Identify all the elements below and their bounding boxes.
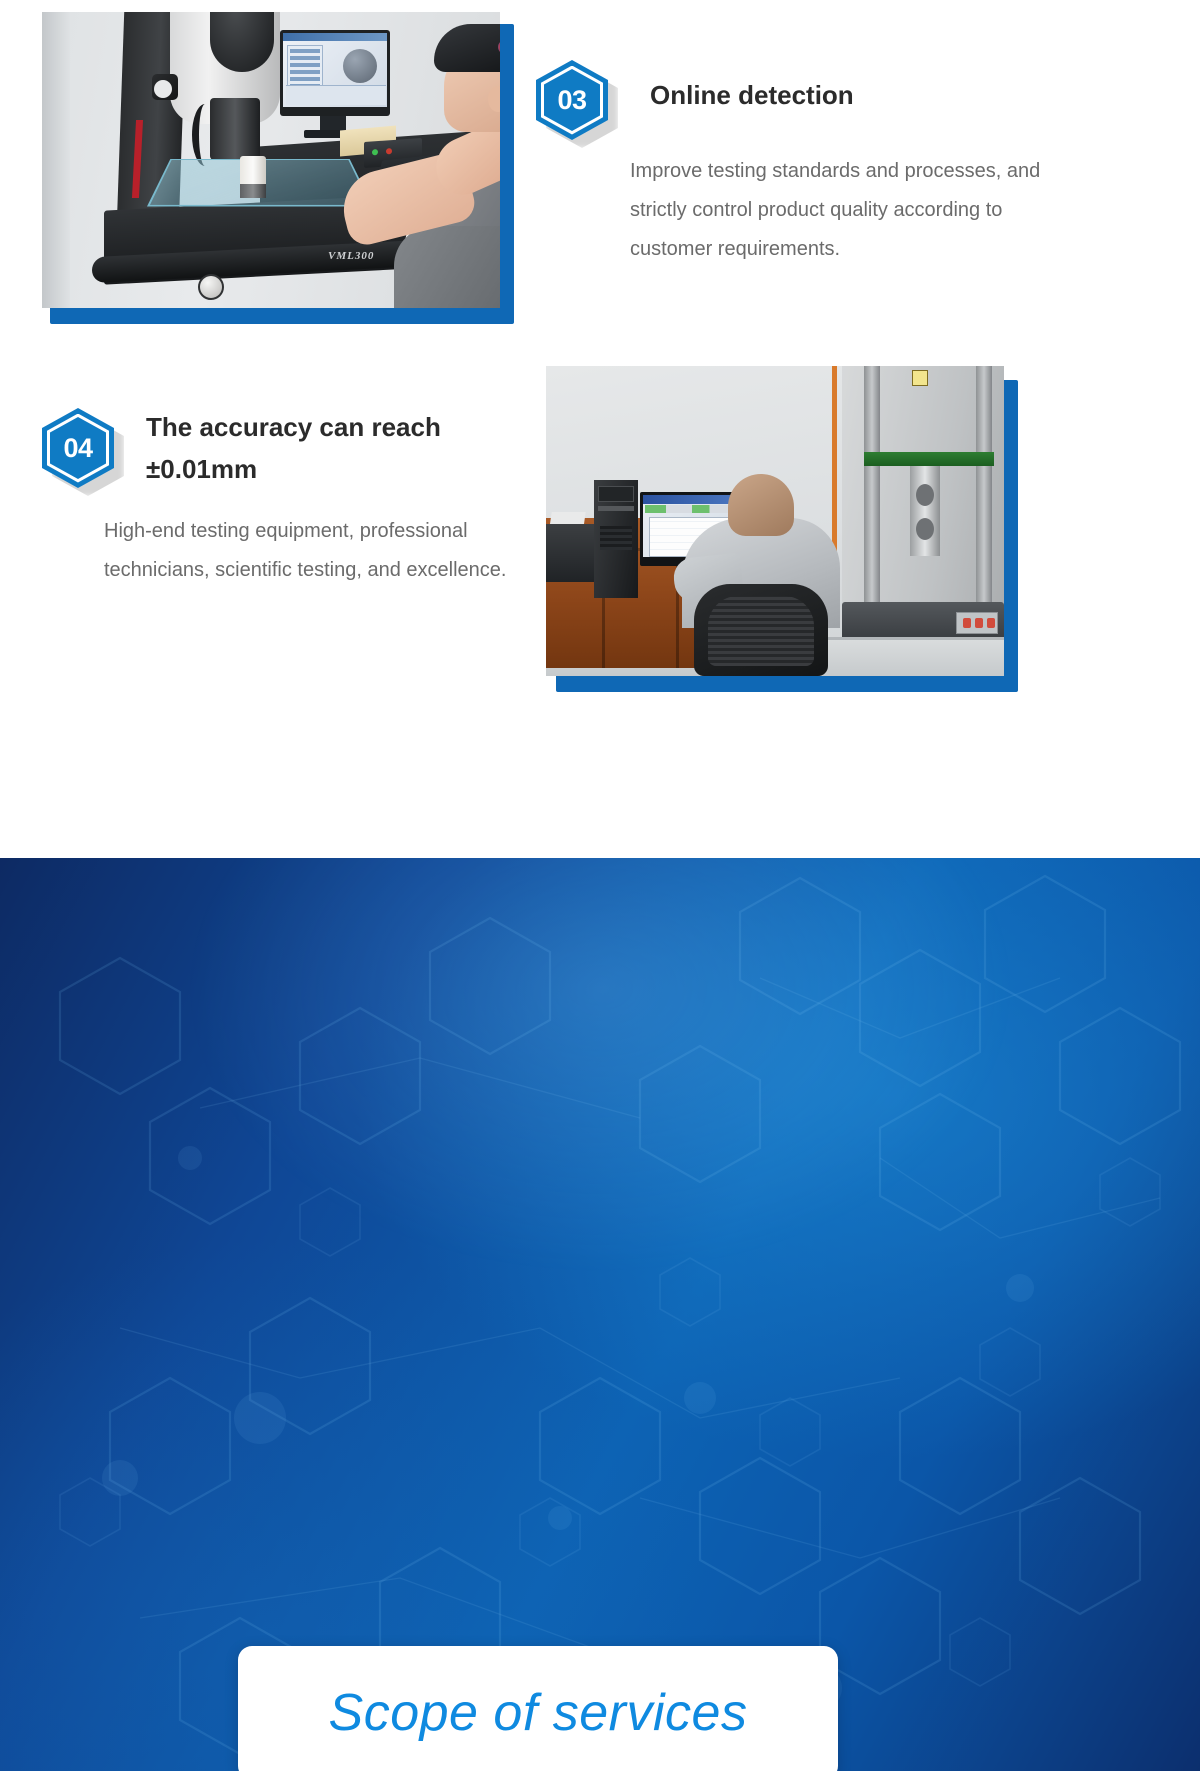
scope-of-services-section: Scope of services 01 CNC processing of e… — [0, 858, 1200, 1771]
feature-body: High-end testing equipment, professional… — [104, 512, 534, 590]
scope-title-plate: Scope of services — [238, 1646, 838, 1771]
feature-title: The accuracy can reach ±0.01mm — [146, 406, 546, 490]
scope-title: Scope of services — [329, 1683, 748, 1743]
feature-title: Online detection — [650, 80, 854, 111]
hexagon-badge-icon: 03 — [536, 60, 608, 140]
tensile-testing-lab-photo — [546, 366, 1018, 692]
photo-image: VML300 — [42, 12, 500, 308]
vision-measuring-machine-photo: VML300 — [42, 12, 514, 324]
feature-body: Improve testing standards and processes,… — [630, 152, 1050, 269]
badge-number: 03 — [536, 60, 608, 140]
badge-number: 04 — [42, 408, 114, 488]
hexagon-badge-icon: 04 — [42, 408, 114, 488]
inspection-features-section: VML300 03 Online detection Improve testi… — [0, 0, 1200, 858]
machine-model-label: VML300 — [328, 250, 374, 262]
photo-image — [546, 366, 1004, 676]
scope-glow-overlay — [150, 858, 1050, 1298]
